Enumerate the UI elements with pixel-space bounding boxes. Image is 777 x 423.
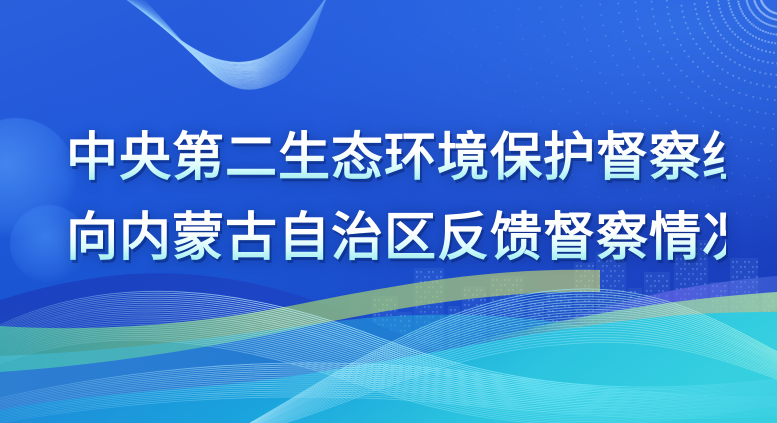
- headline-line-1: 中央第二生态环境保护督察组: [66, 118, 726, 198]
- headline-line-2: 向内蒙古自治区反馈督察情况: [66, 198, 726, 278]
- banner-root: 中央第二生态环境保护督察组 向内蒙古自治区反馈督察情况: [0, 0, 777, 423]
- page-title: 中央第二生态环境保护督察组 向内蒙古自治区反馈督察情况: [66, 118, 726, 278]
